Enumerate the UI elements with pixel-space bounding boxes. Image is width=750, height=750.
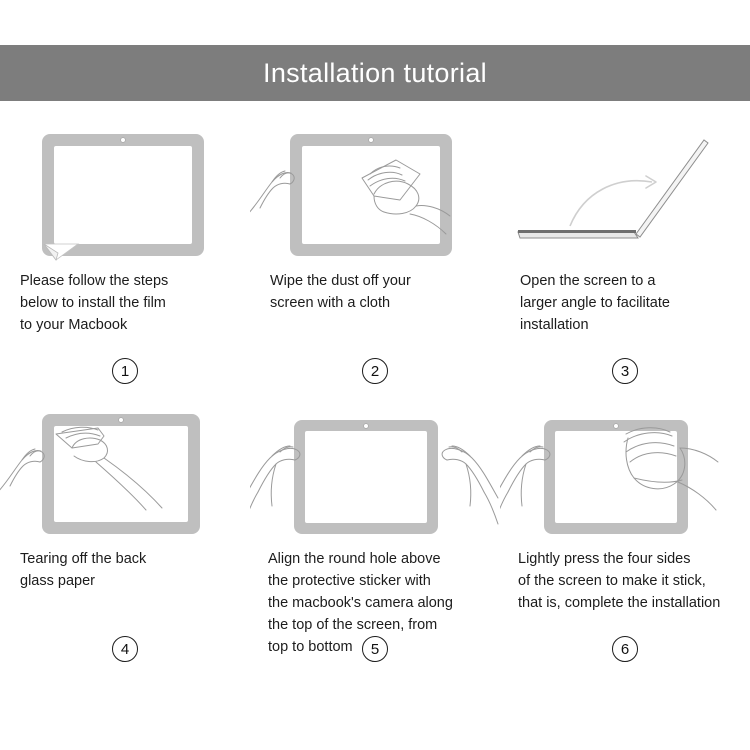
step-card-1: Please follow the steps below to install… [0,120,250,398]
step-number-badge-6: 6 [612,636,638,662]
step-3-illustration [500,120,750,270]
step-4-line-2: glass paper [20,570,236,592]
step-number-badge-3: 3 [612,358,638,384]
step-4-badge-row: 4 [0,636,250,662]
step-6-illustration [500,398,750,548]
hand-wiping-screen-with-cloth-icon [250,120,500,270]
step-1-line-2: below to install the film [20,292,236,314]
step-2-badge-row: 2 [250,358,500,384]
step-2-line-1: Wipe the dust off your [270,270,486,292]
step-card-6: Lightly press the four sides of the scre… [500,398,750,676]
step-1-line-3: to your Macbook [20,314,236,336]
step-5-line-1: Align the round hole above [268,548,486,570]
step-2-text: Wipe the dust off your screen with a clo… [250,270,500,314]
tablet-with-peeling-film-icon [0,120,250,270]
step-6-line-3: that is, complete the installation [518,592,736,614]
step-5-line-3: the macbook's camera along [268,592,486,614]
step-2-line-2: screen with a cloth [270,292,486,314]
step-1-line-1: Please follow the steps [20,270,236,292]
step-card-5: Align the round hole above the protectiv… [250,398,500,676]
step-2-illustration [250,120,500,270]
step-3-line-1: Open the screen to a [520,270,736,292]
step-6-text: Lightly press the four sides of the scre… [500,548,750,614]
step-1-badge-row: 1 [0,358,250,384]
step-5-illustration [250,398,500,548]
laptop-opening-side-view-icon [500,120,750,270]
step-number-badge-4: 4 [112,636,138,662]
step-number-badge-1: 1 [112,358,138,384]
step-3-badge-row: 3 [500,358,750,384]
tutorial-page: Installation tutorial Please follow the … [0,0,750,750]
step-number-badge-2: 2 [362,358,388,384]
page-title: Installation tutorial [263,60,487,87]
step-3-text: Open the screen to a larger angle to fac… [500,270,750,336]
two-hands-aligning-film-icon [250,398,500,548]
step-number-badge-5: 5 [362,636,388,662]
step-4-text: Tearing off the back glass paper [0,548,250,592]
step-5-badge-row: 5 [250,636,500,662]
steps-grid: Please follow the steps below to install… [0,120,750,676]
step-card-2: Wipe the dust off your screen with a clo… [250,120,500,398]
step-6-line-2: of the screen to make it stick, [518,570,736,592]
palm-pressing-screen-icon [500,398,750,548]
step-3-line-3: installation [520,314,736,336]
step-3-line-2: larger angle to facilitate [520,292,736,314]
hands-tearing-back-paper-icon [0,398,250,548]
step-1-text: Please follow the steps below to install… [0,270,250,336]
step-4-line-1: Tearing off the back [20,548,236,570]
step-1-illustration [0,120,250,270]
step-6-line-1: Lightly press the four sides [518,548,736,570]
step-card-4: Tearing off the back glass paper 4 [0,398,250,676]
step-5-line-2: the protective sticker with [268,570,486,592]
step-5-line-4: the top of the screen, from [268,614,486,636]
step-6-badge-row: 6 [500,636,750,662]
header-banner: Installation tutorial [0,45,750,101]
step-card-3: Open the screen to a larger angle to fac… [500,120,750,398]
step-4-illustration [0,398,250,548]
